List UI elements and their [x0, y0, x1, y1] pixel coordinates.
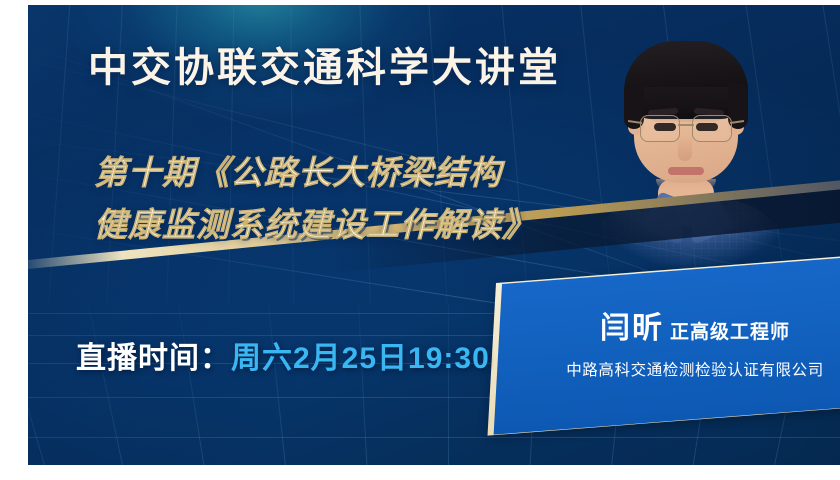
live-stream-poster: 闫昕正高级工程师 中路高科交通检测检验认证有限公司 中交协联交通科学大讲堂 第十… — [0, 0, 840, 480]
poster-subtitle: 第十期《公路长大桥梁结构 健康监测系统建设工作解读》 — [94, 147, 536, 251]
poster-banner: 闫昕正高级工程师 中路高科交通检测检验认证有限公司 中交协联交通科学大讲堂 第十… — [28, 5, 840, 465]
poster-headline: 中交协联交通科学大讲堂 — [88, 35, 561, 93]
speaker-organization: 中路高科交通检测检验认证有限公司 — [522, 358, 840, 380]
subtitle-line-1: 第十期《公路长大桥梁结构 — [94, 147, 536, 199]
speaker-name: 闫昕 — [600, 312, 664, 345]
speaker-portrait — [536, 5, 836, 293]
speaker-info: 闫昕正高级工程师 中路高科交通检测检验认证有限公司 — [522, 291, 840, 431]
live-time-label: 直播时间： — [76, 342, 231, 375]
speaker-title: 正高级工程师 — [670, 322, 790, 343]
live-time: 直播时间：周六2月25日19:30 — [76, 333, 490, 377]
live-time-value: 周六2月25日19:30 — [231, 342, 490, 375]
subtitle-line-2: 健康监测系统建设工作解读》 — [94, 199, 536, 251]
